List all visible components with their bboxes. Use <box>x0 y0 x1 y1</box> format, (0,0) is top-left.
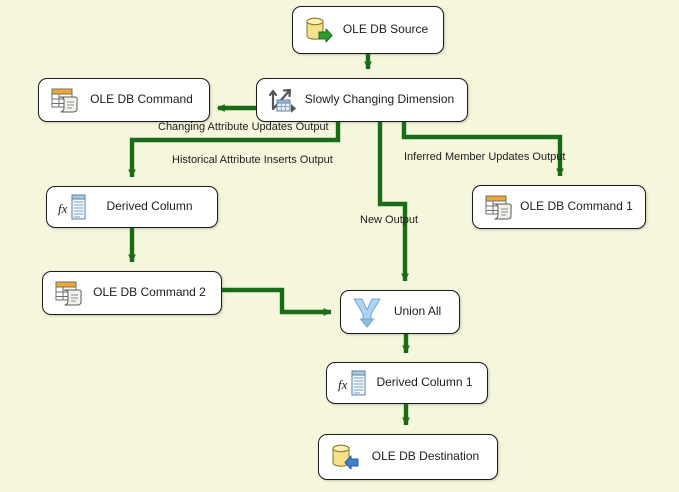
node-ole-db-destination[interactable]: OLE DB Destination <box>318 434 498 480</box>
node-ole-db-command[interactable]: OLE DB Command <box>38 78 210 122</box>
path-label-new-output: New Output <box>360 214 418 226</box>
node-label: Union All <box>384 305 459 318</box>
database-destination-icon <box>328 440 362 474</box>
union-all-icon <box>350 295 384 329</box>
node-ole-db-command-2[interactable]: OLE DB Command 2 <box>42 271 222 315</box>
node-label: OLE DB Command <box>82 93 209 106</box>
ole-db-command-icon <box>482 190 516 224</box>
node-ole-db-source[interactable]: OLE DB Source <box>292 6 444 54</box>
node-slowly-changing-dimension[interactable]: Slowly Changing Dimension <box>256 78 468 122</box>
ole-db-command-icon <box>52 276 86 310</box>
data-flow-canvas[interactable]: OLE DB Source OLE DB Command <box>0 0 679 492</box>
slowly-changing-dimension-icon <box>266 83 300 117</box>
node-label: Derived Column 1 <box>370 376 487 389</box>
connector-layer <box>0 0 679 492</box>
database-source-icon <box>302 13 336 47</box>
derived-column-icon: fx <box>336 366 370 400</box>
ole-db-command-icon <box>48 83 82 117</box>
node-ole-db-command-1[interactable]: OLE DB Command 1 <box>472 185 646 229</box>
path-label-historical-attribute-inserts-output: Historical Attribute Inserts Output <box>172 154 333 166</box>
node-derived-column-1[interactable]: fx Derived Column 1 <box>326 362 488 404</box>
node-label: Derived Column <box>90 200 217 213</box>
path-label-changing-attribute-updates-output: Changing Attribute Updates Output <box>158 121 329 133</box>
node-label: OLE DB Source <box>336 23 443 36</box>
svg-text:fx: fx <box>58 201 68 216</box>
node-label: Slowly Changing Dimension <box>300 93 467 106</box>
connector-ole-db-command-2-to-union-all <box>222 290 331 312</box>
svg-text:fx: fx <box>338 377 348 392</box>
node-union-all[interactable]: Union All <box>340 290 460 334</box>
node-derived-column[interactable]: fx Derived Column <box>46 186 218 228</box>
node-label: OLE DB Destination <box>362 450 497 463</box>
derived-column-icon: fx <box>56 190 90 224</box>
node-label: OLE DB Command 1 <box>516 200 645 213</box>
node-label: OLE DB Command 2 <box>86 286 221 299</box>
connector-scd-to-union-all <box>380 122 405 281</box>
connector-scd-to-ole-db-command-1 <box>404 122 560 176</box>
path-label-inferred-member-updates-output: Inferred Member Updates Output <box>404 151 565 163</box>
